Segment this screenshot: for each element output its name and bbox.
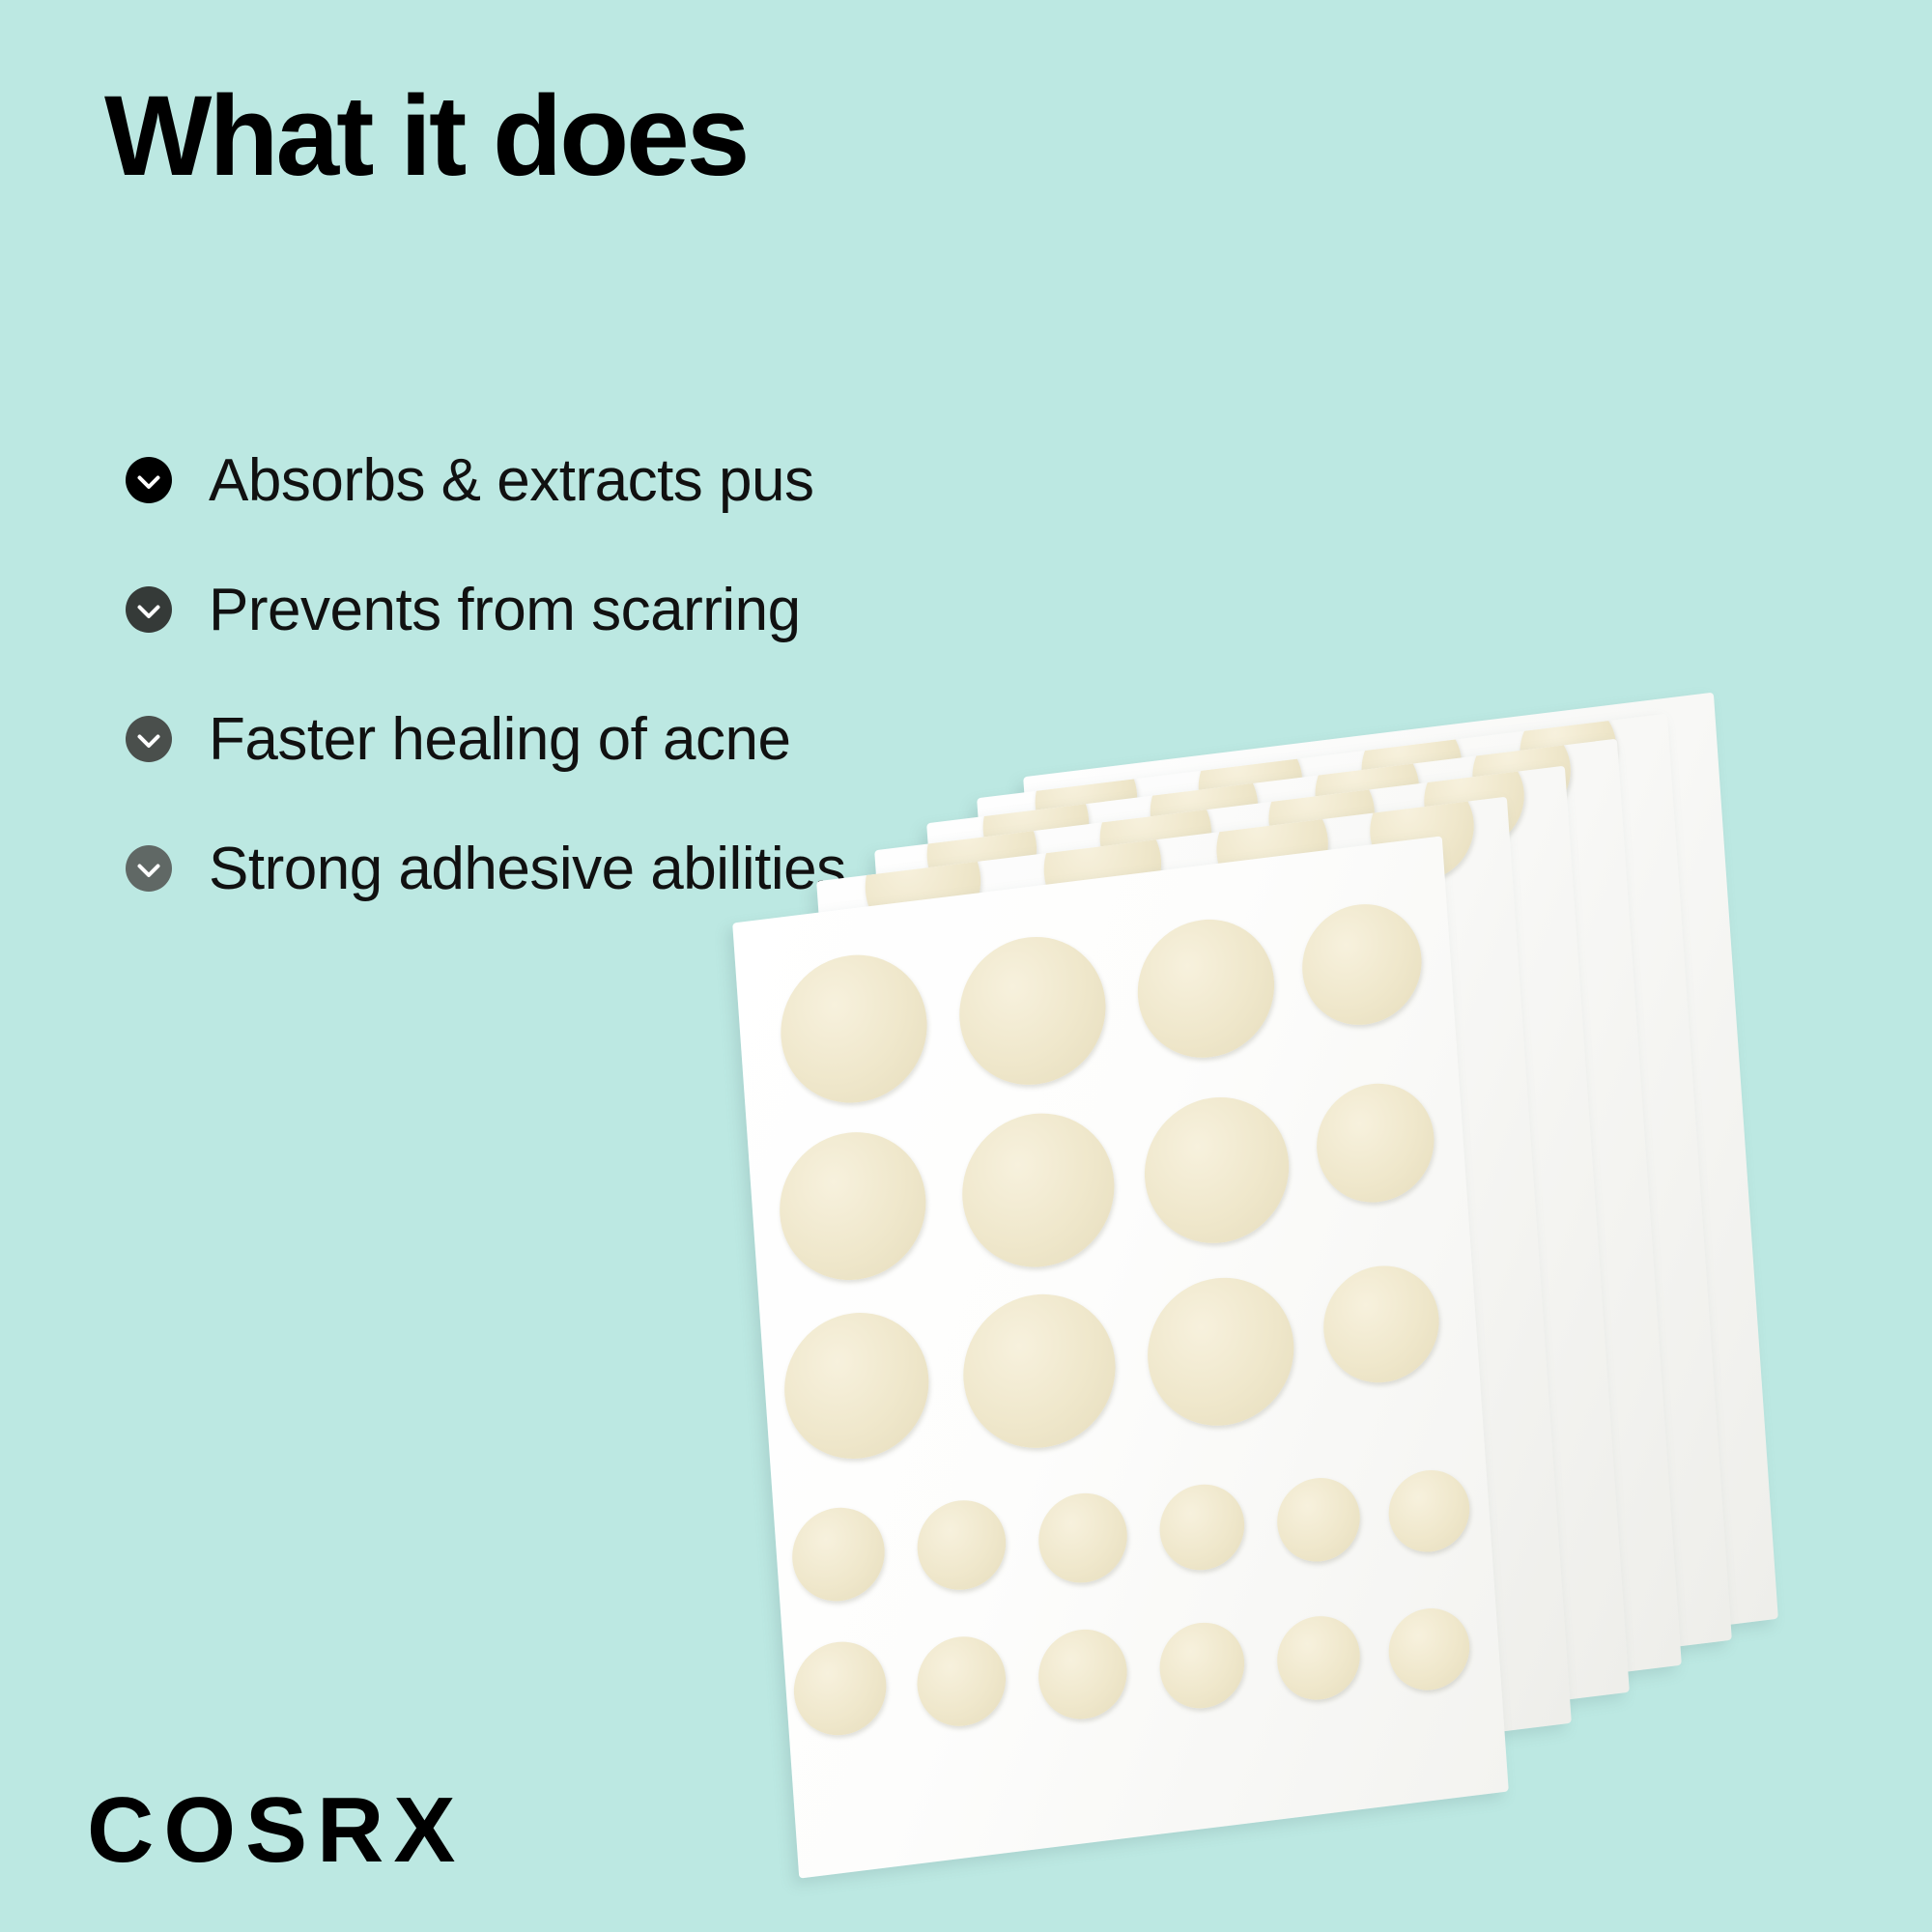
patch xyxy=(1386,1604,1472,1694)
patch-sheet-front xyxy=(732,836,1509,1878)
benefit-item-1: Prevents from scarring xyxy=(126,545,1092,674)
patch xyxy=(1036,1489,1130,1588)
patch xyxy=(915,1495,1009,1595)
cosrx-logo: COSRX xyxy=(87,1777,465,1884)
check-circle-icon xyxy=(126,845,172,892)
patch xyxy=(1386,1465,1472,1556)
patch xyxy=(1298,897,1426,1032)
patch xyxy=(780,1304,933,1466)
patch xyxy=(791,1636,890,1741)
patch xyxy=(1157,1480,1247,1576)
page-title: What it does xyxy=(104,79,747,193)
patch xyxy=(1133,912,1279,1065)
benefit-item-0: Absorbs & extracts pus xyxy=(126,415,1092,545)
patch xyxy=(954,928,1110,1093)
patch xyxy=(775,1123,930,1288)
patch xyxy=(1036,1625,1130,1724)
patch xyxy=(789,1502,888,1606)
patch xyxy=(1140,1089,1293,1251)
benefit-label: Faster healing of acne xyxy=(209,705,791,774)
patch xyxy=(1157,1618,1247,1714)
patch xyxy=(1274,1611,1362,1704)
patch xyxy=(1143,1269,1298,1434)
poster-canvas: What it does Absorbs & extracts pus Prev… xyxy=(0,0,1932,1932)
product-image xyxy=(763,734,1932,1932)
patch xyxy=(958,1286,1121,1457)
patch xyxy=(957,1105,1120,1276)
check-circle-icon xyxy=(126,457,172,503)
benefit-label: Prevents from scarring xyxy=(209,576,801,644)
benefit-label: Absorbs & extracts pus xyxy=(209,446,814,515)
patch xyxy=(1320,1260,1442,1389)
patch xyxy=(914,1632,1009,1731)
patch xyxy=(776,947,931,1111)
check-circle-icon xyxy=(126,586,172,633)
benefit-label: Strong adhesive abilities xyxy=(209,835,846,903)
check-circle-icon xyxy=(126,716,172,762)
patch xyxy=(1313,1077,1438,1209)
patch xyxy=(1274,1473,1362,1566)
